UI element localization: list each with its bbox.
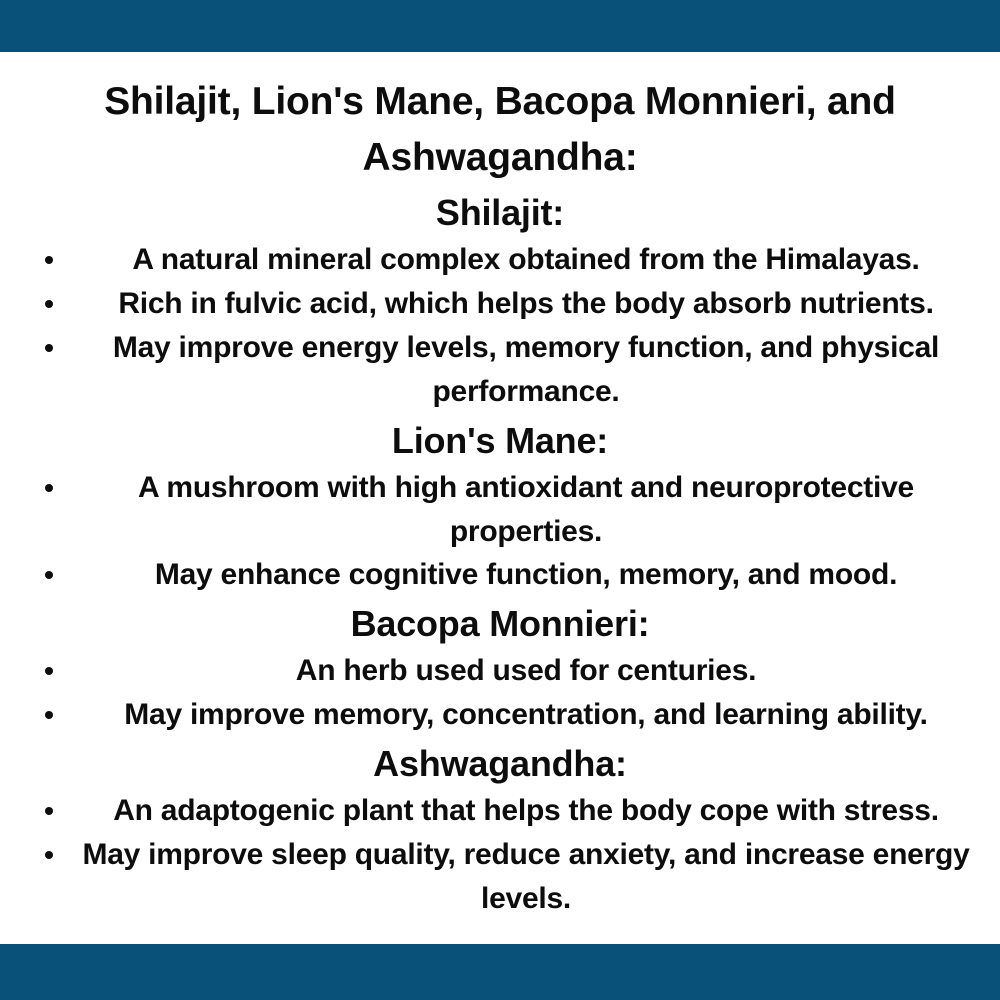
bullet-dot-icon (45, 571, 53, 579)
list-item: A mushroom with high antioxidant and neu… (12, 466, 988, 554)
bullet-dot-icon (45, 300, 53, 308)
list-item-text: May enhance cognitive function, memory, … (78, 553, 974, 597)
page-title: Shilajit, Lion's Mane, Bacopa Monnieri, … (12, 52, 988, 186)
list-item: May improve memory, concentration, and l… (12, 693, 988, 737)
list-item-text: An adaptogenic plant that helps the body… (78, 789, 974, 833)
section-lions-mane: Lion's Mane: A mushroom with high antiox… (12, 414, 988, 598)
bullet-dot-icon (45, 256, 53, 264)
bullet-dot-icon (45, 851, 53, 859)
bullet-list-ashwagandha: An adaptogenic plant that helps the body… (12, 789, 988, 920)
section-ashwagandha: Ashwagandha: An adaptogenic plant that h… (12, 737, 988, 921)
bullet-list-shilajit: A natural mineral complex obtained from … (12, 238, 988, 413)
bullet-list-lions-mane: A mushroom with high antioxidant and neu… (12, 466, 988, 597)
section-heading-lions-mane: Lion's Mane: (12, 414, 988, 466)
list-item: May improve sleep quality, reduce anxiet… (12, 833, 988, 921)
bullet-dot-icon (45, 667, 53, 675)
slide: Shilajit, Lion's Mane, Bacopa Monnieri, … (0, 0, 1000, 1000)
list-item-text: May improve energy levels, memory functi… (78, 326, 974, 414)
bullet-dot-icon (45, 807, 53, 815)
list-item-text: May improve memory, concentration, and l… (78, 693, 974, 737)
top-accent-band (0, 0, 1000, 52)
bottom-accent-band (0, 944, 1000, 1000)
bullet-list-bacopa-monnieri: An herb used used for centuries. May imp… (12, 649, 988, 737)
bullet-dot-icon (45, 484, 53, 492)
list-item: An herb used used for centuries. (12, 649, 988, 693)
section-heading-shilajit: Shilajit: (12, 186, 988, 238)
list-item-text: May improve sleep quality, reduce anxiet… (78, 833, 974, 921)
list-item-text: An herb used used for centuries. (78, 649, 974, 693)
list-item: An adaptogenic plant that helps the body… (12, 789, 988, 833)
list-item: Rich in fulvic acid, which helps the bod… (12, 282, 988, 326)
bullet-dot-icon (45, 344, 53, 352)
section-bacopa-monnieri: Bacopa Monnieri: An herb used used for c… (12, 597, 988, 737)
list-item-text: A natural mineral complex obtained from … (78, 238, 974, 282)
section-heading-ashwagandha: Ashwagandha: (12, 737, 988, 789)
section-shilajit: Shilajit: A natural mineral complex obta… (12, 186, 988, 413)
list-item: A natural mineral complex obtained from … (12, 238, 988, 282)
section-heading-bacopa-monnieri: Bacopa Monnieri: (12, 597, 988, 649)
list-item: May improve energy levels, memory functi… (12, 326, 988, 414)
list-item-text: Rich in fulvic acid, which helps the bod… (78, 282, 974, 326)
slide-content: Shilajit, Lion's Mane, Bacopa Monnieri, … (0, 52, 1000, 944)
list-item: May enhance cognitive function, memory, … (12, 553, 988, 597)
list-item-text: A mushroom with high antioxidant and neu… (78, 466, 974, 554)
bullet-dot-icon (45, 711, 53, 719)
